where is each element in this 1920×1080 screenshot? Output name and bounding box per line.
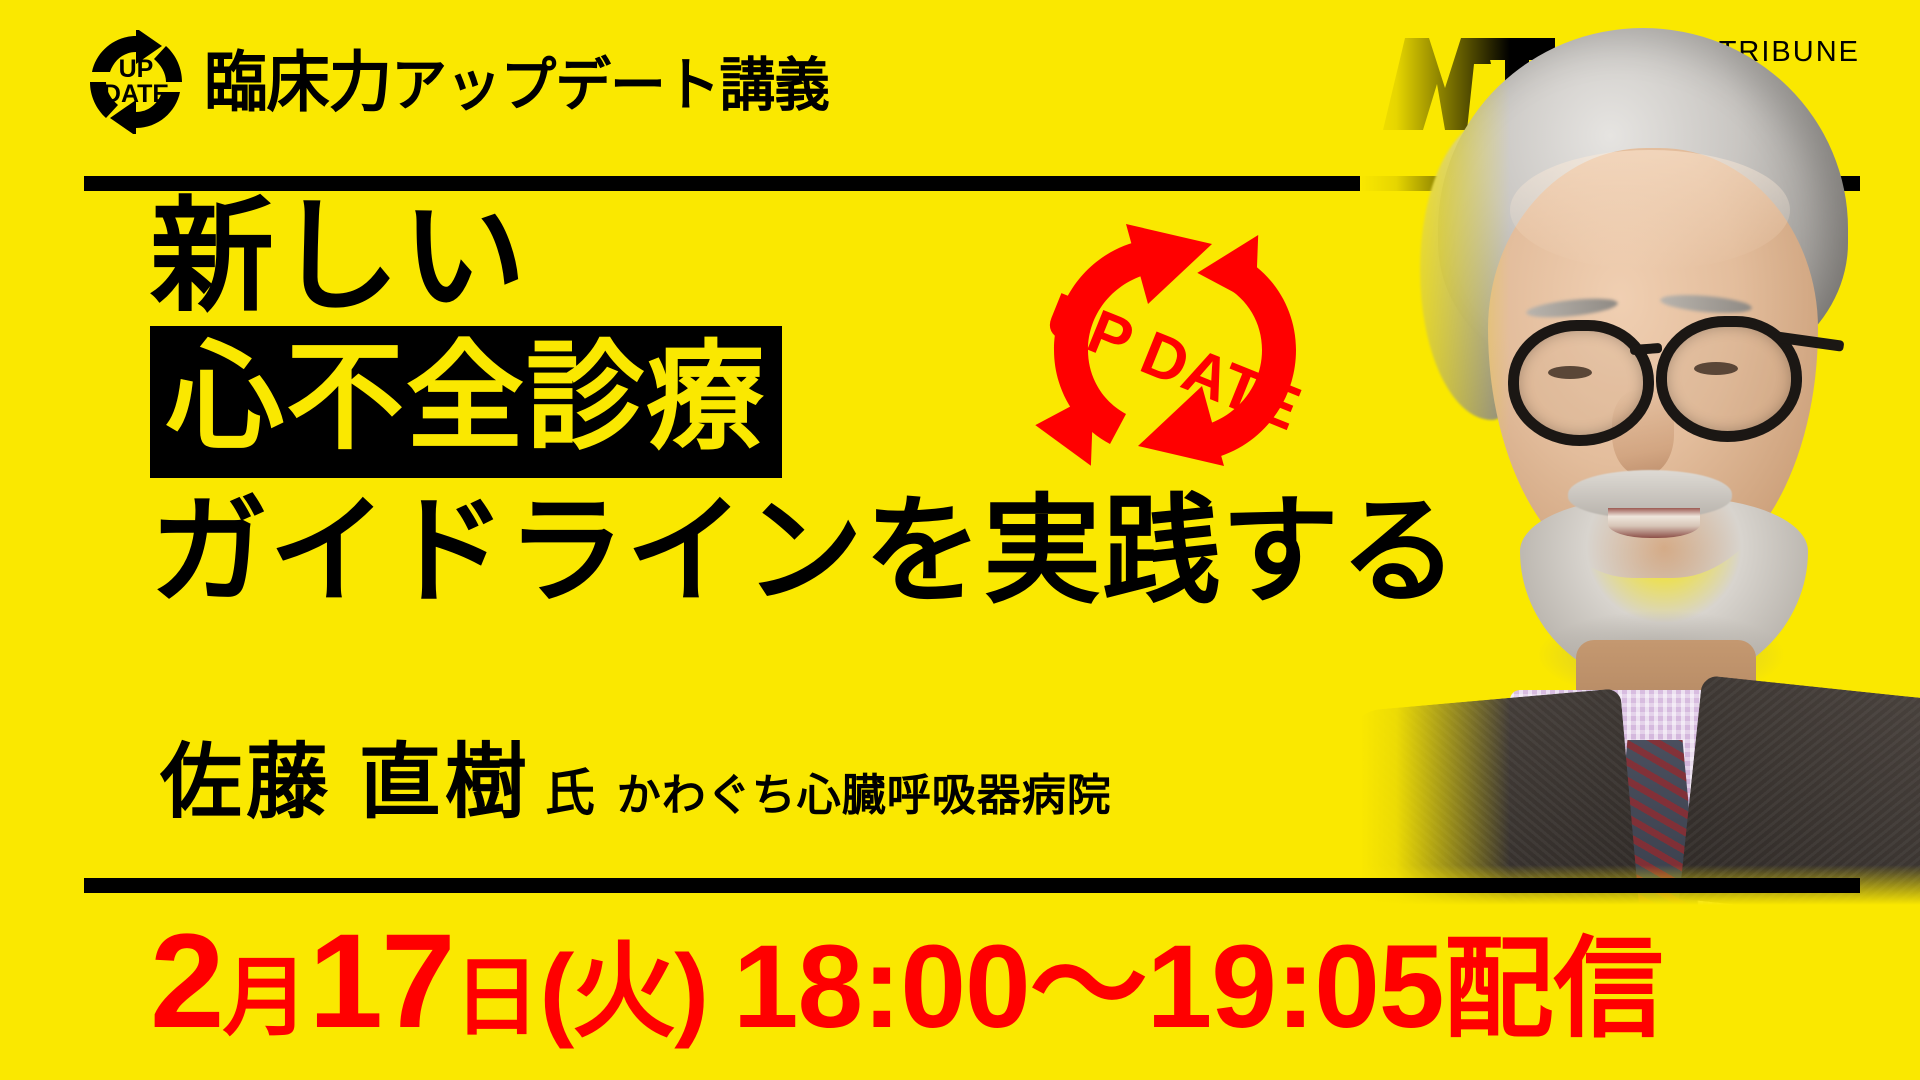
- speaker-name: 佐藤 直樹: [160, 742, 531, 824]
- schedule-day-unit: 日: [454, 955, 540, 1041]
- speaker-affiliation: かわぐち心臓呼吸器病院: [617, 774, 1112, 818]
- update-badge-label: UP DATE: [84, 57, 188, 107]
- schedule-month-unit: 月: [223, 955, 309, 1041]
- series-title-kana: アップデート講義: [391, 53, 829, 118]
- webinar-poster: UP DATE 臨床力アップデート講義 MEDICALTRIBUNE MEET: [0, 0, 1920, 1080]
- series-title-kanji: 臨床力: [204, 45, 391, 119]
- circular-arrows-icon: UP DATE: [1030, 200, 1320, 490]
- title-line-3: ガイドラインを実践する: [150, 494, 1210, 612]
- divider-bottom: [84, 878, 1860, 893]
- schedule-time-range: 18:00〜19:05: [733, 928, 1444, 1046]
- schedule-delivery-label: 配信: [1443, 935, 1663, 1045]
- schedule-day: 17: [309, 915, 454, 1049]
- schedule-month: 2: [150, 915, 223, 1049]
- series-brand: UP DATE 臨床力アップデート講義: [84, 30, 855, 134]
- speaker-photo: [1360, 0, 1920, 905]
- schedule-bar: 2 月 17 日 (火) 18:00〜19:05 配信: [150, 915, 1663, 1049]
- update-circle-graphic: UP DATE: [1030, 200, 1320, 490]
- series-title: 臨床力アップデート講義: [204, 49, 829, 115]
- speaker-credit: 佐藤 直樹 氏 かわぐち心臓呼吸器病院: [160, 742, 1112, 824]
- speaker-honorific: 氏: [545, 768, 595, 818]
- schedule-weekday: (火): [540, 940, 707, 1044]
- title-line-2-highlight: 心不全診療: [150, 326, 782, 478]
- update-badge: UP DATE: [84, 30, 188, 134]
